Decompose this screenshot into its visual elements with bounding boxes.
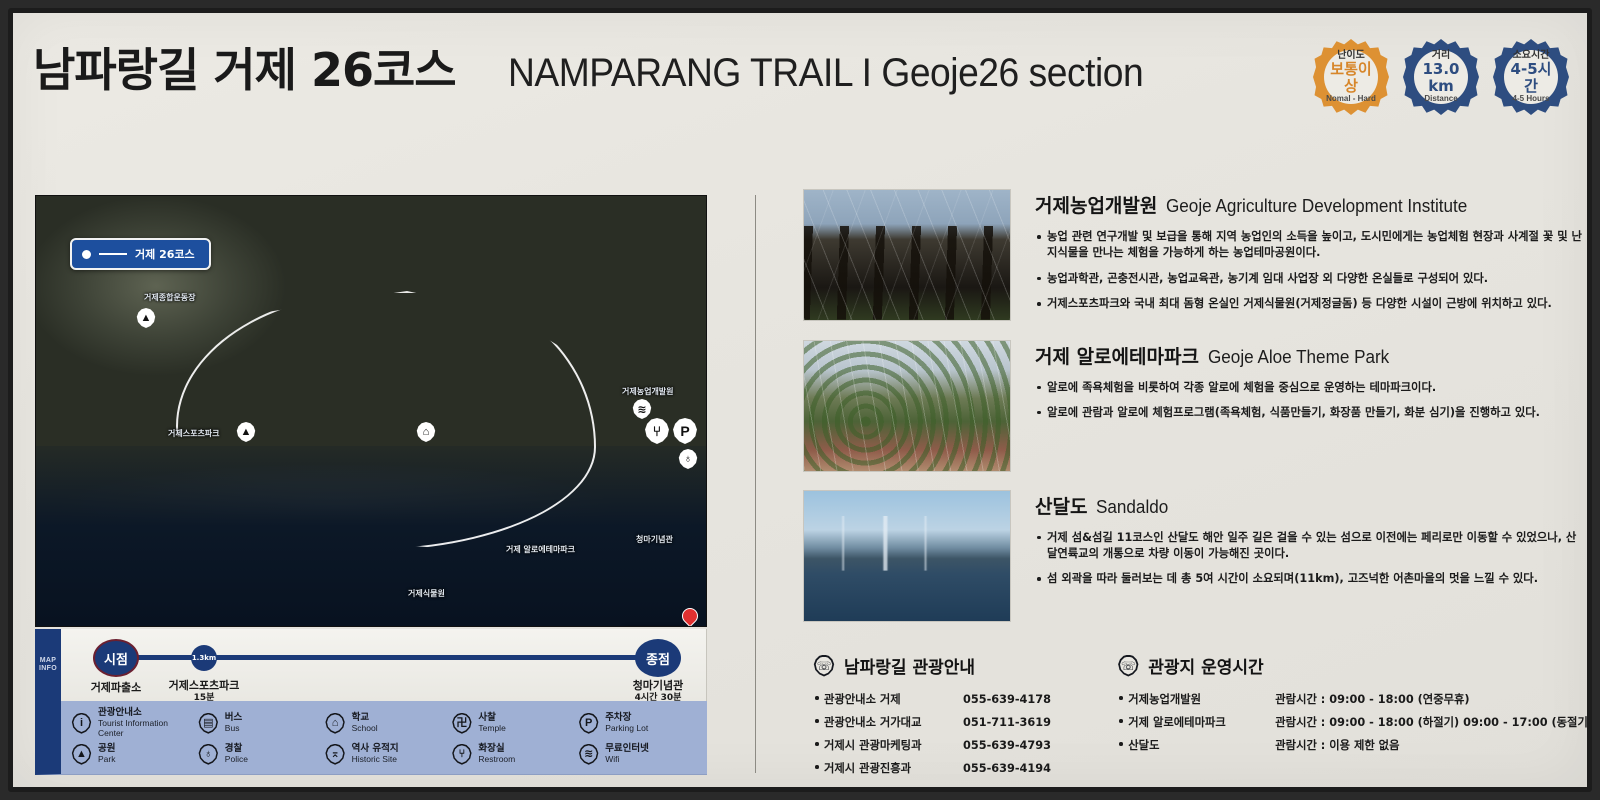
duration-badge-value: 4-5시간 — [1504, 61, 1558, 96]
you-are-here-marker: 현위치 You are Here — [624, 626, 694, 627]
section-bullet: 알로에 관람과 알로에 체험프로그램(족욕체험, 식품만들기, 화장품 만들기,… — [1035, 405, 1585, 421]
difficulty-badge-sublabel: Nomal - Hard — [1326, 95, 1376, 104]
route-start-label: 거제파출소 — [79, 681, 153, 695]
map-route-legend-label: 거제 26코스 — [135, 246, 195, 262]
hours-row: 거제농업개발원 관람시간 : 09:00 - 18:00 (연중무휴) — [1117, 691, 1592, 707]
route-end-label-name: 청마기념관 — [609, 679, 707, 693]
legend-item-school: ⌂ 학교 School — [325, 708, 448, 738]
map-info-tag: MAP INFO — [39, 657, 57, 673]
legend-item-historic-site: ⌅ 역사 유적지 Historic Site — [325, 740, 448, 768]
legend-label-en: School — [352, 724, 378, 734]
map-poi-restroom-icon[interactable]: ⑂ — [644, 418, 670, 444]
historic-site-icon: ⌅ — [325, 744, 346, 765]
sandaldo-photo — [803, 490, 1011, 622]
map-label-2: 거제농업개발원 — [622, 386, 674, 397]
map-label-4: 청마기념관 — [636, 534, 673, 545]
map-poi-wifi-icon[interactable]: ≋ — [632, 399, 652, 419]
contact-name: 관광안내소 거제 — [813, 691, 963, 707]
section-title-en: Geoje Aloe Theme Park — [1208, 347, 1389, 368]
map-icon-legend: i 관광안내소 Tourist Information Center ▤ 버스 … — [35, 701, 707, 775]
hours-section-title: 관광지 운영시간 — [1148, 653, 1263, 678]
hours-row: 산달도 관람시간 : 이용 제한 없음 — [1117, 737, 1592, 753]
tourist-contact-column: ☏ 남파랑길 관광안내 관광안내소 거제 055-639-4178 관광안내소 … — [813, 653, 1087, 783]
hours-value: 관람시간 : 09:00 - 18:00 (하절기) 09:00 - 17:00… — [1275, 714, 1592, 730]
map-label-0: 거제종합운동장 — [144, 292, 196, 303]
legend-label-en: Parking Lot — [605, 724, 648, 734]
contact-name: 관광안내소 거가대교 — [813, 714, 963, 730]
wifi-icon: ≋ — [578, 744, 599, 765]
tourist-information-icon: i — [71, 713, 92, 734]
section-bullet: 거제스포츠파크와 국내 최대 돔형 온실인 거제식물원(거제정글돔) 등 다양한… — [1035, 296, 1585, 312]
bus-icon: ▤ — [198, 713, 219, 734]
hours-place-name: 거제농업개발원 — [1117, 691, 1275, 707]
legend-label-en: Tourist Information Center — [98, 719, 194, 739]
distance-badge-value: 13.0 km — [1414, 61, 1468, 96]
attraction-section-agriculture: 거제농업개발원 Geoje Agriculture Development In… — [803, 189, 1585, 322]
page-title-english: NAMPARANG TRAIL I Geoje26 section — [508, 51, 1143, 95]
contact-phone: 051-711-3619 — [963, 716, 1051, 729]
police-icon: ♁ — [198, 744, 219, 765]
page-title-korean: 남파랑길 거제 26코스 — [33, 47, 456, 93]
duration-badge-sublabel: 4-5 Hours — [1513, 95, 1550, 104]
map-panel: 거제 26코스 ▲ ▲ ⌂ ≋ ⑂ P ♁ 거제종합운동장 거제스포츠파크 거제… — [35, 195, 707, 775]
route-end-node[interactable]: 종점 — [635, 639, 681, 677]
legend-item-tourist-information-center: i 관광안내소 Tourist Information Center — [71, 708, 194, 738]
agriculture-institute-photo — [803, 189, 1011, 321]
legend-item-restroom: ⑂ 화장실 Restroom — [451, 740, 574, 768]
section-title-ko: 거제 알로에테마파크 — [1035, 342, 1199, 369]
legend-item-park: ▲ 공원 Park — [71, 740, 194, 768]
route-elevation-bar: MAP INFO 시점 1.3km 종점 거제파출소 거제스포츠파크 15분 청… — [35, 629, 707, 701]
section-title-ko: 산달도 — [1035, 492, 1087, 519]
phone-info-icon: ☏ — [813, 655, 835, 677]
section-title-en: Geoje Agriculture Development Institute — [1166, 196, 1467, 217]
map-label-1: 거제스포츠파크 — [168, 428, 220, 439]
bottom-info-area: ☏ 남파랑길 관광안내 관광안내소 거제 055-639-4178 관광안내소 … — [813, 653, 1592, 783]
legend-label-en: Bus — [225, 724, 242, 734]
contact-name: 거제시 관광진흥과 — [813, 760, 963, 776]
contact-section-title: 남파랑길 관광안내 — [844, 653, 975, 678]
legend-label-en: Restroom — [478, 755, 515, 765]
contact-row: 거제시 관광진흥과 055-639-4194 — [813, 760, 1087, 776]
legend-item-temple: 卍 사찰 Temple — [451, 708, 574, 738]
park-icon: ▲ — [71, 744, 92, 765]
section-bullet: 섬 외곽을 따라 둘러보는 데 총 5여 시간이 소요되며(11km), 고즈넉… — [1035, 571, 1585, 587]
attractions-content: 거제농업개발원 Geoje Agriculture Development In… — [803, 189, 1585, 640]
parking-icon: P — [578, 713, 599, 734]
difficulty-badge: 난이도 보통이상 Nomal - Hard — [1313, 39, 1389, 115]
duration-badge: 소요시간 4-5시간 4-5 Hours — [1493, 39, 1569, 115]
legend-item-wifi: ≋ 무료인터넷 Wifi — [578, 740, 701, 768]
map-label-3: 거제 알로에테마파크 — [506, 544, 575, 555]
legend-label-en: Wifi — [605, 755, 649, 765]
restroom-icon: ⑂ — [451, 744, 472, 765]
hours-place-name: 거제 알로에테마파크 — [1117, 714, 1275, 730]
contact-phone: 055-639-4178 — [963, 693, 1051, 706]
attraction-section-sandaldo: 산달도 Sandaldo 거제 섬&섬길 11코스인 산달도 해안 일주 길은 … — [803, 490, 1585, 622]
clock-info-icon: ☏ — [1117, 655, 1139, 677]
section-title-ko: 거제농업개발원 — [1035, 191, 1157, 218]
route-dot-icon — [82, 250, 91, 259]
route-line-icon — [99, 253, 127, 255]
badge-group: 난이도 보통이상 Nomal - Hard 거리 13.0 km Distanc… — [1313, 39, 1569, 115]
route-mid-node[interactable]: 1.3km — [191, 645, 217, 671]
section-bullet: 알로에 족욕체험을 비롯하여 각종 알로에 체험을 중심으로 운영하는 테마파크… — [1035, 380, 1585, 396]
school-icon: ⌂ — [325, 713, 346, 734]
contact-row: 관광안내소 거제 055-639-4178 — [813, 691, 1087, 707]
legend-label-en: Park — [98, 755, 115, 765]
section-title-en: Sandaldo — [1096, 497, 1168, 518]
contact-phone: 055-639-4194 — [963, 762, 1051, 775]
map-route-legend: 거제 26코스 — [70, 238, 211, 270]
legend-label-en: Temple — [478, 724, 505, 734]
map-label-5: 거제식물원 — [408, 588, 445, 599]
vertical-divider — [755, 195, 756, 773]
information-board: 남파랑길 거제 26코스 NAMPARANG TRAIL I Geoje26 s… — [8, 8, 1592, 792]
satellite-map-image: 거제 26코스 ▲ ▲ ⌂ ≋ ⑂ P ♁ 거제종합운동장 거제스포츠파크 거제… — [35, 195, 707, 627]
board-header: 남파랑길 거제 26코스 NAMPARANG TRAIL I Geoje26 s… — [13, 13, 1587, 145]
legend-label-en: Historic Site — [352, 755, 399, 765]
legend-label-en: Police — [225, 755, 248, 765]
contact-row: 거제시 관광마케팅과 055-639-4793 — [813, 737, 1087, 753]
section-bullet: 농업 관련 연구개발 및 보급을 통해 지역 농업인의 소득을 높이고, 도시민… — [1035, 229, 1585, 262]
contact-name: 거제시 관광마케팅과 — [813, 737, 963, 753]
map-poi-park-icon[interactable]: ▲ — [136, 308, 156, 328]
distance-badge: 거리 13.0 km Distance — [1403, 39, 1479, 115]
section-bullet: 거제 섬&섬길 11코스인 산달도 해안 일주 길은 걸을 수 있는 섬으로 이… — [1035, 530, 1585, 563]
legend-item-police: ♁ 경찰 Police — [198, 740, 321, 768]
contact-phone: 055-639-4793 — [963, 739, 1051, 752]
hours-row: 거제 알로에테마파크 관람시간 : 09:00 - 18:00 (하절기) 09… — [1117, 714, 1592, 730]
difficulty-badge-value: 보통이상 — [1324, 61, 1378, 96]
temple-icon: 卍 — [451, 713, 472, 734]
hours-value: 관람시간 : 09:00 - 18:00 (연중무휴) — [1275, 691, 1469, 707]
legend-item-parking-lot: P 주차장 Parking Lot — [578, 708, 701, 738]
contact-row: 관광안내소 거가대교 051-711-3619 — [813, 714, 1087, 730]
map-poi-parking-icon[interactable]: P — [672, 418, 698, 444]
route-mid-label-name: 거제스포츠파크 — [147, 679, 261, 693]
attraction-section-aloe: 거제 알로에테마파크 Geoje Aloe Theme Park 알로에 족욕체… — [803, 340, 1585, 472]
legend-item-bus: ▤ 버스 Bus — [198, 708, 321, 738]
hours-place-name: 산달도 — [1117, 737, 1275, 753]
hours-value: 관람시간 : 이용 제한 없음 — [1275, 737, 1399, 753]
operating-hours-column: ☏ 관광지 운영시간 거제농업개발원 관람시간 : 09:00 - 18:00 … — [1117, 653, 1592, 783]
distance-badge-sublabel: Distance — [1424, 95, 1457, 104]
aloe-theme-park-photo — [803, 340, 1011, 472]
route-start-node[interactable]: 시점 — [93, 639, 139, 677]
section-bullet: 농업과학관, 곤충전시관, 농업교육관, 농기계 임대 사업장 외 다양한 온실… — [1035, 271, 1585, 287]
